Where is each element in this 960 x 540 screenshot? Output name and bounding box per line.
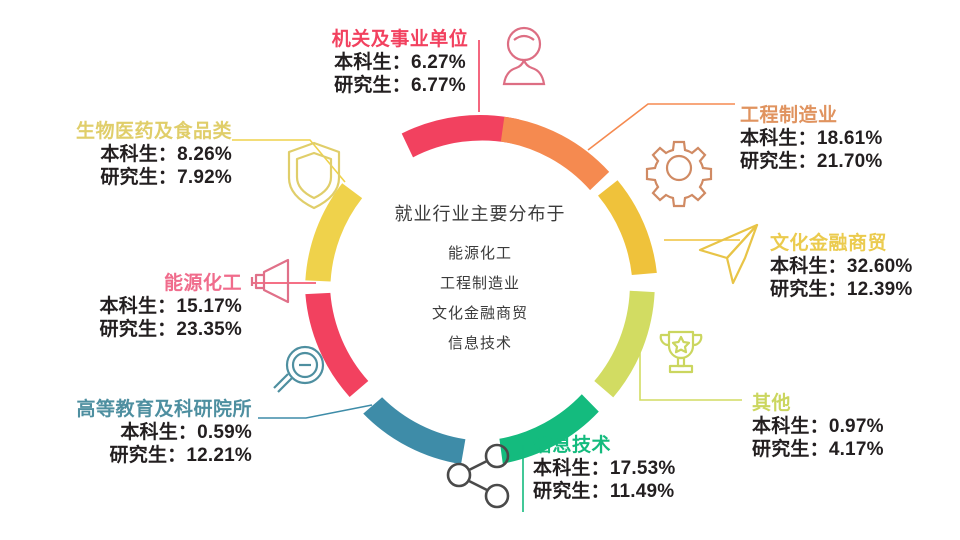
- label-gov-postgrad: 研究生：6.77%: [305, 74, 495, 97]
- label-finance-undergrad: 本科生：32.60%: [770, 255, 912, 278]
- paper-plane-icon: [700, 225, 757, 283]
- label-gov-title: 机关及事业单位: [305, 28, 495, 51]
- label-other-postgrad: 研究生：4.17%: [752, 438, 884, 461]
- value-gov-postgrad: 6.77%: [411, 75, 466, 96]
- value-other-postgrad: 4.17%: [829, 439, 884, 460]
- legend-key-postgrad: 研究生：: [100, 167, 177, 188]
- label-gov[interactable]: 机关及事业单位 本科生：6.27% 研究生：6.77%: [305, 28, 495, 98]
- legend-key-postgrad: 研究生：: [334, 75, 411, 96]
- value-education-postgrad: 12.21%: [186, 445, 252, 466]
- trophy-icon: [661, 332, 702, 372]
- center-item-3: 信息技术: [355, 332, 605, 353]
- label-it-undergrad: 本科生：17.53%: [533, 457, 675, 480]
- label-education-postgrad: 研究生：12.21%: [10, 444, 252, 467]
- value-biomed-undergrad: 8.26%: [177, 144, 232, 165]
- connector-education: [258, 405, 372, 418]
- legend-key-postgrad: 研究生：: [110, 445, 187, 466]
- value-biomed-postgrad: 7.92%: [177, 167, 232, 188]
- value-energy-undergrad: 15.17%: [176, 296, 242, 317]
- legend-key-undergrad: 本科生：: [334, 52, 411, 73]
- label-education-undergrad: 本科生：0.59%: [10, 421, 252, 444]
- label-energy-postgrad: 研究生：23.35%: [10, 318, 242, 341]
- legend-key-undergrad: 本科生：: [100, 296, 177, 317]
- center-item-1: 工程制造业: [355, 272, 605, 293]
- label-it-postgrad: 研究生：11.49%: [533, 480, 675, 503]
- label-education[interactable]: 高等教育及科研院所 本科生：0.59% 研究生：12.21%: [10, 398, 252, 468]
- legend-key-undergrad: 本科生：: [770, 256, 847, 277]
- label-engineering[interactable]: 工程制造业 本科生：18.61% 研究生：21.70%: [740, 104, 882, 174]
- label-energy-undergrad: 本科生：15.17%: [10, 295, 242, 318]
- legend-key-undergrad: 本科生：: [120, 422, 197, 443]
- label-engineering-undergrad: 本科生：18.61%: [740, 127, 882, 150]
- legend-key-postgrad: 研究生：: [740, 151, 817, 172]
- label-gov-undergrad: 本科生：6.27%: [305, 51, 495, 74]
- center-text-block: 就业行业主要分布于 能源化工 工程制造业 文化金融商贸 信息技术: [355, 200, 605, 362]
- ring-segment-education[interactable]: [363, 394, 467, 467]
- value-gov-undergrad: 6.27%: [411, 52, 466, 73]
- center-headline: 就业行业主要分布于: [355, 200, 605, 226]
- center-item-0: 能源化工: [355, 242, 605, 263]
- label-biomed[interactable]: 生物医药及食品类 本科生：8.26% 研究生：7.92%: [10, 120, 232, 190]
- ring-segment-engineering[interactable]: [496, 117, 615, 193]
- label-engineering-postgrad: 研究生：21.70%: [740, 150, 882, 173]
- value-engineering-undergrad: 18.61%: [817, 128, 883, 149]
- legend-key-undergrad: 本科生：: [752, 416, 829, 437]
- label-other[interactable]: 其他 本科生：0.97% 研究生：4.17%: [752, 392, 884, 462]
- connector-engineering: [588, 104, 735, 150]
- label-biomed-undergrad: 本科生：8.26%: [10, 143, 232, 166]
- ring-segment-gov[interactable]: [397, 94, 519, 178]
- magnifier-minus-icon: [274, 347, 323, 392]
- label-energy-title: 能源化工: [10, 272, 242, 295]
- label-finance-title: 文化金融商贸: [770, 232, 912, 255]
- label-finance-postgrad: 研究生：12.39%: [770, 278, 912, 301]
- value-it-undergrad: 17.53%: [610, 458, 676, 479]
- gear-icon: [647, 142, 711, 206]
- legend-key-undergrad: 本科生：: [740, 128, 817, 149]
- legend-key-undergrad: 本科生：: [533, 458, 610, 479]
- person-icon: [504, 28, 544, 84]
- label-other-title: 其他: [752, 392, 884, 415]
- label-biomed-postgrad: 研究生：7.92%: [10, 166, 232, 189]
- value-finance-postgrad: 12.39%: [847, 279, 913, 300]
- value-finance-undergrad: 32.60%: [847, 256, 913, 277]
- center-item-2: 文化金融商贸: [355, 302, 605, 323]
- value-other-undergrad: 0.97%: [829, 416, 884, 437]
- value-education-undergrad: 0.59%: [197, 422, 252, 443]
- value-it-postgrad: 11.49%: [610, 481, 675, 502]
- legend-key-undergrad: 本科生：: [100, 144, 177, 165]
- shield-icon: [289, 143, 339, 208]
- legend-key-postgrad: 研究生：: [100, 319, 177, 340]
- label-finance[interactable]: 文化金融商贸 本科生：32.60% 研究生：12.39%: [770, 232, 912, 302]
- legend-key-postgrad: 研究生：: [752, 439, 829, 460]
- label-energy[interactable]: 能源化工 本科生：15.17% 研究生：23.35%: [10, 272, 242, 342]
- value-energy-postgrad: 23.35%: [176, 319, 242, 340]
- label-biomed-title: 生物医药及食品类: [10, 120, 232, 143]
- label-it-title: 信息技术: [533, 434, 675, 457]
- legend-key-postgrad: 研究生：: [770, 279, 847, 300]
- infographic-canvas: 就业行业主要分布于 能源化工 工程制造业 文化金融商贸 信息技术 机关及事业单位…: [0, 0, 960, 540]
- label-engineering-title: 工程制造业: [740, 104, 882, 127]
- value-engineering-postgrad: 21.70%: [817, 151, 883, 172]
- legend-key-postgrad: 研究生：: [533, 481, 610, 502]
- label-education-title: 高等教育及科研院所: [10, 398, 252, 421]
- megaphone-icon: [252, 260, 288, 302]
- label-other-undergrad: 本科生：0.97%: [752, 415, 884, 438]
- connector-other: [640, 318, 742, 400]
- label-it[interactable]: 信息技术 本科生：17.53% 研究生：11.49%: [533, 434, 675, 504]
